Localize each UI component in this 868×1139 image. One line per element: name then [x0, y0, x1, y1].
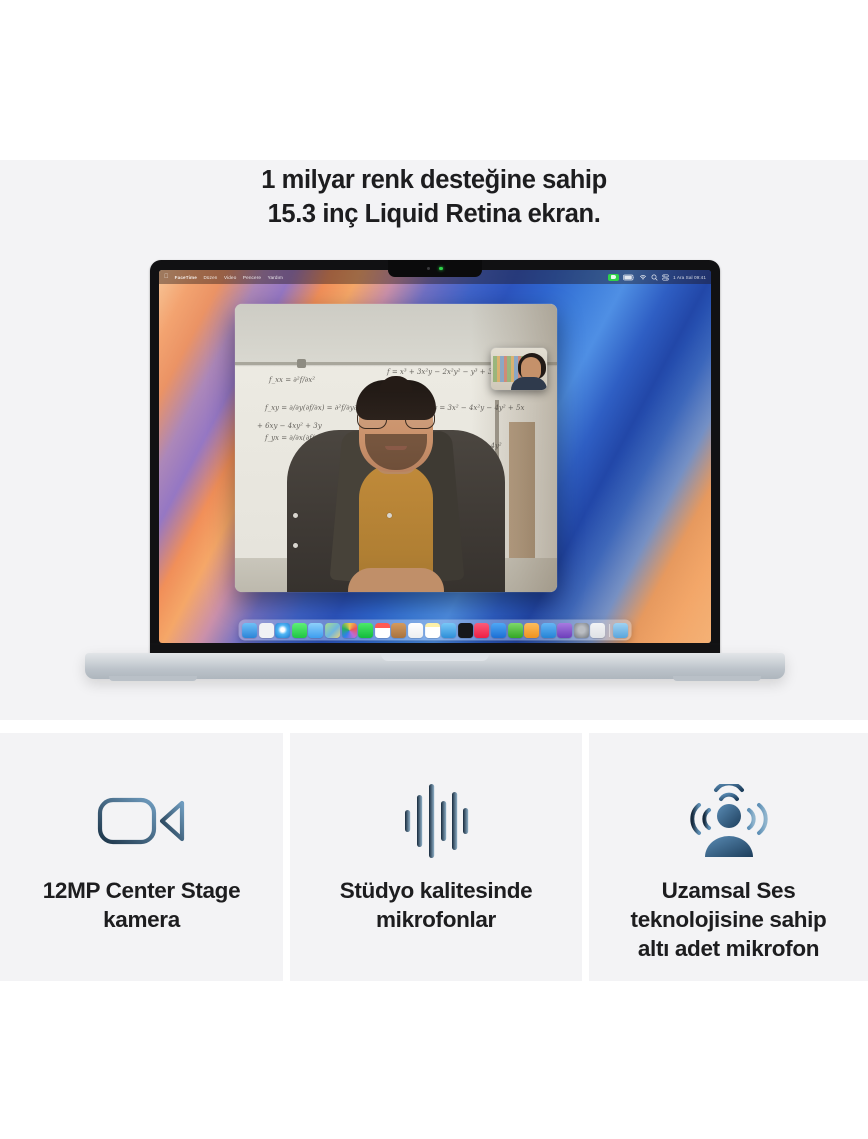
facetime-self-view[interactable]: [491, 348, 547, 390]
dock-app-reminders[interactable]: [408, 623, 423, 638]
video-camera-icon: [96, 779, 188, 863]
dock-app-messages[interactable]: [292, 623, 307, 638]
dock-folder-downloads[interactable]: [613, 623, 628, 638]
dock-app-app-store[interactable]: [491, 623, 506, 638]
feature-card-camera: 12MP Center Stage kamera: [0, 733, 283, 981]
equation-line: f = x³ + 3x²y − 2x²y² − y³ + 3xy: [387, 368, 500, 376]
dock-app-contacts[interactable]: [391, 623, 406, 638]
menubar-item-pencere[interactable]: Pencere: [243, 275, 261, 280]
laptop-base-notch: [381, 653, 489, 661]
apple-icon[interactable]: : [164, 274, 169, 280]
label-line-2: teknolojisine sahip: [631, 906, 827, 935]
menubar-item-video[interactable]: Video: [224, 275, 236, 280]
wifi-icon[interactable]: [639, 274, 647, 281]
macos-dock[interactable]: [239, 620, 631, 640]
facetime-main-participant: [235, 380, 557, 592]
laptop-lid:  FaceTime Düzen Video Pencere Yardım: [150, 260, 720, 655]
feature-card-microphones: Stüdyo kalitesinde mikrofonlar: [290, 733, 582, 981]
feature-card-camera-label: 12MP Center Stage kamera: [35, 877, 248, 935]
page-title-line-2: 15.3 inç Liquid Retina ekran.: [0, 198, 868, 232]
laptop-base: [85, 653, 785, 679]
dock-app-system-settings[interactable]: [574, 623, 589, 638]
dock-app-keynote[interactable]: [541, 623, 556, 638]
menubar-app-name[interactable]: FaceTime: [175, 275, 197, 280]
label-line-3: altı adet mikrofon: [631, 935, 827, 964]
battery-icon[interactable]: [623, 274, 635, 281]
camera-active-icon[interactable]: [608, 274, 619, 281]
feature-card-spatial-audio-label: Uzamsal Ses teknolojisine sahip altı ade…: [629, 877, 829, 963]
dock-app-home[interactable]: [591, 623, 606, 638]
menubar-item-duzen[interactable]: Düzen: [203, 275, 217, 280]
dock-app-launchpad[interactable]: [259, 623, 274, 638]
menubar-status-area: 1 Ara Sal 09:41: [608, 274, 706, 281]
label-line-1: 12MP Center Stage: [43, 877, 240, 906]
menubar-clock[interactable]: 1 Ara Sal 09:41: [673, 275, 706, 280]
feature-card-spatial-audio: Uzamsal Ses teknolojisine sahip altı ade…: [589, 733, 868, 981]
laptop-foot-right: [673, 676, 761, 681]
laptop-foot-left: [109, 676, 197, 681]
audio-waveform-icon: [403, 779, 469, 863]
dock-app-finder[interactable]: [242, 623, 257, 638]
page-title-line-1: 1 milyar renk desteğine sahip: [0, 164, 868, 198]
dock-app-pages[interactable]: [524, 623, 539, 638]
feature-card-microphones-label: Stüdyo kalitesinde mikrofonlar: [332, 877, 541, 935]
camera-lens-icon: [427, 267, 430, 270]
dock-app-tv[interactable]: [458, 623, 473, 638]
dock-app-facetime[interactable]: [358, 623, 373, 638]
control-center-icon[interactable]: [662, 274, 669, 281]
label-line-1: Uzamsal Ses: [631, 877, 827, 906]
dock-app-calendar[interactable]: [375, 623, 390, 638]
dock-app-photos[interactable]: [342, 623, 357, 638]
dock-app-safari[interactable]: [275, 623, 290, 638]
label-line-2: kamera: [43, 906, 240, 935]
dock-app-podcasts[interactable]: [557, 623, 572, 638]
spatial-audio-person-icon: [688, 779, 770, 863]
dock-app-music[interactable]: [474, 623, 489, 638]
dock-app-numbers[interactable]: [508, 623, 523, 638]
macbook-air-device:  FaceTime Düzen Video Pencere Yardım: [85, 260, 785, 720]
menubar-item-yardim[interactable]: Yardım: [268, 275, 283, 280]
label-line-1: Stüdyo kalitesinde: [340, 877, 533, 906]
laptop-screen:  FaceTime Düzen Video Pencere Yardım: [159, 270, 711, 643]
display-notch: [388, 260, 482, 277]
dock-app-mail[interactable]: [308, 623, 323, 638]
facetime-window[interactable]: f_xx = ∂²f/∂x² f_xy = ∂/∂y(∂f/∂x) = ∂²f/…: [235, 304, 557, 592]
label-line-2: mikrofonlar: [340, 906, 533, 935]
dock-app-maps[interactable]: [325, 623, 340, 638]
hero-panel: 1 milyar renk desteğine sahip 15.3 inç L…: [0, 160, 868, 720]
camera-active-led-icon: [439, 267, 443, 271]
dock-separator: [609, 624, 610, 637]
search-icon[interactable]: [651, 274, 658, 281]
feature-cards: 12MP Center Stage kamera: [0, 733, 868, 981]
page-title: 1 milyar renk desteğine sahip 15.3 inç L…: [0, 160, 868, 232]
dock-app-freeform[interactable]: [441, 623, 456, 638]
dock-app-notes[interactable]: [425, 623, 440, 638]
